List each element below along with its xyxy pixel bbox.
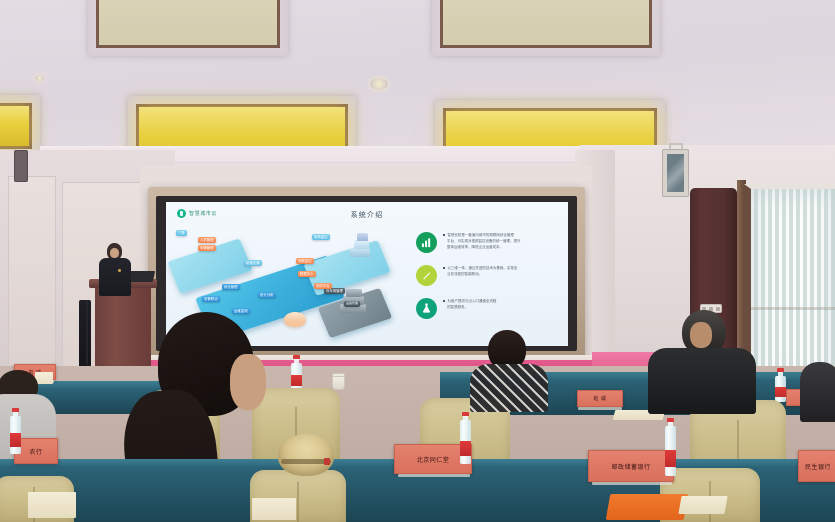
ceiling-downlight	[35, 75, 44, 81]
bar-chart-icon	[416, 232, 437, 253]
paper-sheet	[252, 498, 296, 520]
presenter-badge	[118, 269, 121, 272]
wall-speaker-icon	[662, 149, 689, 197]
ceiling-coffer-dim	[432, 0, 660, 56]
diagram-node: 统计分析	[258, 292, 276, 298]
diagram-node: 车辆管理	[198, 245, 216, 251]
wall-speaker-icon	[14, 150, 28, 182]
slide-bullet-item: 智慧安防是一套面向城市的物联网综合管理 平台，可实现对视频监控设备的统一管理，提…	[416, 232, 568, 253]
slide-bullet-text: 智慧安防是一套面向城市的物联网综合管理 平台，可实现对视频监控设备的统一管理，提…	[443, 232, 568, 250]
ceiling-downlight	[370, 78, 388, 90]
diagram-node: 数据中心	[298, 271, 316, 277]
water-bottle	[10, 408, 21, 454]
presenter	[98, 243, 132, 295]
water-bottle	[665, 418, 679, 476]
diagram-node: 门禁	[176, 230, 187, 236]
attendee-dark-jacket	[648, 310, 756, 410]
diagram-node: 告警联动	[202, 296, 220, 302]
ceiling-coffer-dim	[88, 0, 288, 56]
diagram-node: 人员管理	[198, 237, 216, 243]
slide-bullet-text: 以三维一体，通过先进的技术为基础，实现全 业务流程的智能联动。	[443, 265, 568, 277]
diagram-node: 轨道交通	[244, 260, 262, 266]
window-mullion	[751, 307, 835, 310]
slide-bullet-list: 智慧安防是一套面向城市的物联网综合管理 平台，可实现对视频监控设备的统一管理，提…	[416, 232, 568, 331]
diagram-node: 安防平台	[314, 283, 332, 289]
diagram-node: 综合管理	[222, 284, 240, 290]
water-bottle	[460, 412, 473, 464]
paper-sheet	[28, 492, 76, 518]
tea-cup	[332, 375, 345, 390]
microphone-stand	[86, 300, 88, 364]
flask-icon	[416, 298, 437, 319]
safety-helmet	[278, 434, 334, 476]
diagram-node: 智慧监控	[312, 234, 330, 240]
wall-panel	[8, 176, 56, 366]
slide-bullet-item: 为用户提供与出入口通道全流程 的智慧服务。	[416, 298, 568, 319]
slide-bullet-text: 为用户提供与出入口通道全流程 的智慧服务。	[443, 298, 568, 310]
slide-title: 系统介绍	[166, 210, 568, 220]
placard-front-centerright: 邮政储蓄银行	[588, 450, 674, 482]
attendee-right-edge	[800, 352, 835, 422]
diagram-node: 视频监控	[296, 258, 314, 264]
ceiling-coffer-lit	[0, 95, 40, 157]
slide-bullet-item: 以三维一体，通过先进的技术为基础，实现全 业务流程的智能联动。	[416, 265, 568, 286]
coffer-light-panel	[99, 0, 277, 45]
conference-room-photo: 智慧城市云 系统介绍 门禁 智慧监控	[0, 0, 835, 522]
attendee-patterned-top	[470, 330, 548, 410]
stage-drape	[79, 300, 91, 368]
placard-back-center: 赵 威	[577, 390, 623, 407]
coffer-light-panel	[443, 0, 649, 45]
pen-icon	[416, 265, 437, 286]
placard-front-farright: 民生银行	[798, 450, 835, 482]
paper-sheet	[678, 496, 727, 514]
coffer-light-panel	[0, 106, 29, 146]
orange-folder	[606, 494, 689, 520]
diagram-node: 设备管理	[344, 301, 360, 307]
water-bottle	[775, 368, 786, 402]
